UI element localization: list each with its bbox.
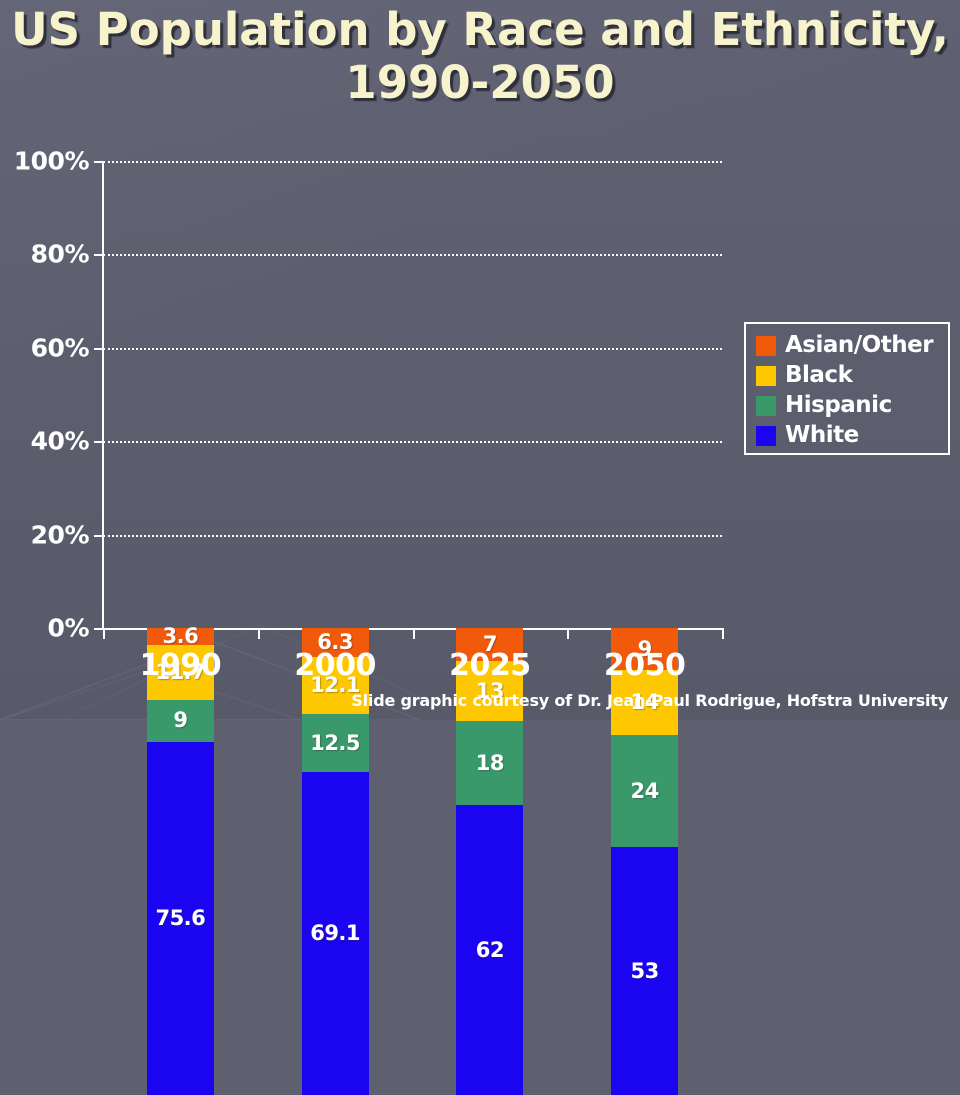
bar-value-label: 75.6 [155, 908, 205, 929]
bar-value-label: 62 [476, 940, 504, 961]
bar-segment-white-2025[interactable]: 62 [456, 805, 523, 1095]
x-axis-tick [567, 628, 569, 639]
plot-area: 0%20%40%60%80%100%75.6911.73.6199069.112… [103, 161, 722, 628]
y-axis-tick [94, 628, 103, 630]
y-axis-label: 40% [31, 427, 89, 456]
legend-item-asian-other[interactable]: Asian/Other [756, 331, 948, 360]
gridline [103, 254, 722, 256]
y-axis-tick [94, 535, 103, 537]
bar-segment-white-2000[interactable]: 69.1 [302, 772, 369, 1095]
bar-segment-hispanic-2025[interactable]: 18 [456, 721, 523, 805]
y-axis-label: 0% [48, 614, 89, 643]
x-axis-label-1990: 1990 [140, 648, 222, 683]
x-axis-tick [103, 628, 105, 639]
legend-item-black[interactable]: Black [756, 361, 948, 390]
gridline [103, 348, 722, 350]
y-axis-label: 20% [31, 520, 89, 549]
y-axis-tick [94, 441, 103, 443]
legend-swatch-icon [756, 336, 776, 356]
gridline [103, 441, 722, 443]
gridline [103, 161, 722, 163]
y-axis-tick [94, 348, 103, 350]
bar-segment-white-1990[interactable]: 75.6 [147, 742, 214, 1095]
bar-segment-hispanic-2050[interactable]: 24 [611, 735, 678, 847]
y-axis-tick [94, 161, 103, 163]
legend-swatch-icon [756, 426, 776, 446]
legend-label: Hispanic [785, 394, 892, 417]
bar-segment-asian-other-1990[interactable]: 3.6 [147, 628, 214, 645]
x-axis-label-2000: 2000 [294, 648, 376, 683]
legend-item-white[interactable]: White [756, 421, 948, 450]
bar-value-label: 69.1 [310, 923, 360, 944]
legend-label: Asian/Other [785, 334, 933, 357]
bar-segment-white-2050[interactable]: 53 [611, 847, 678, 1095]
x-axis-tick [413, 628, 415, 639]
bar-segment-hispanic-2000[interactable]: 12.5 [302, 714, 369, 772]
legend-label: White [785, 424, 859, 447]
y-axis-line [102, 161, 104, 628]
legend-label: Black [785, 364, 852, 387]
y-axis-tick [94, 254, 103, 256]
legend-item-hispanic[interactable]: Hispanic [756, 391, 948, 420]
bar-value-label: 53 [631, 961, 659, 982]
bar-value-label: 9 [173, 710, 187, 731]
bar-value-label: 18 [476, 753, 504, 774]
x-axis-tick [258, 628, 260, 639]
legend-swatch-icon [756, 366, 776, 386]
x-axis-tick [722, 628, 724, 639]
y-axis-label: 100% [14, 147, 89, 176]
credit-text: Slide graphic courtesy of Dr. Jean-Paul … [0, 691, 948, 710]
bar-value-label: 3.6 [163, 626, 199, 647]
bar-value-label: 24 [631, 781, 659, 802]
gridline [103, 535, 722, 537]
legend-swatch-icon [756, 396, 776, 416]
y-axis-label: 80% [31, 240, 89, 269]
chart-legend: Asian/OtherBlackHispanicWhite [744, 322, 950, 455]
x-axis-label-2050: 2050 [604, 648, 686, 683]
x-axis-label-2025: 2025 [449, 648, 531, 683]
bar-value-label: 12.5 [310, 733, 360, 754]
y-axis-label: 60% [31, 333, 89, 362]
